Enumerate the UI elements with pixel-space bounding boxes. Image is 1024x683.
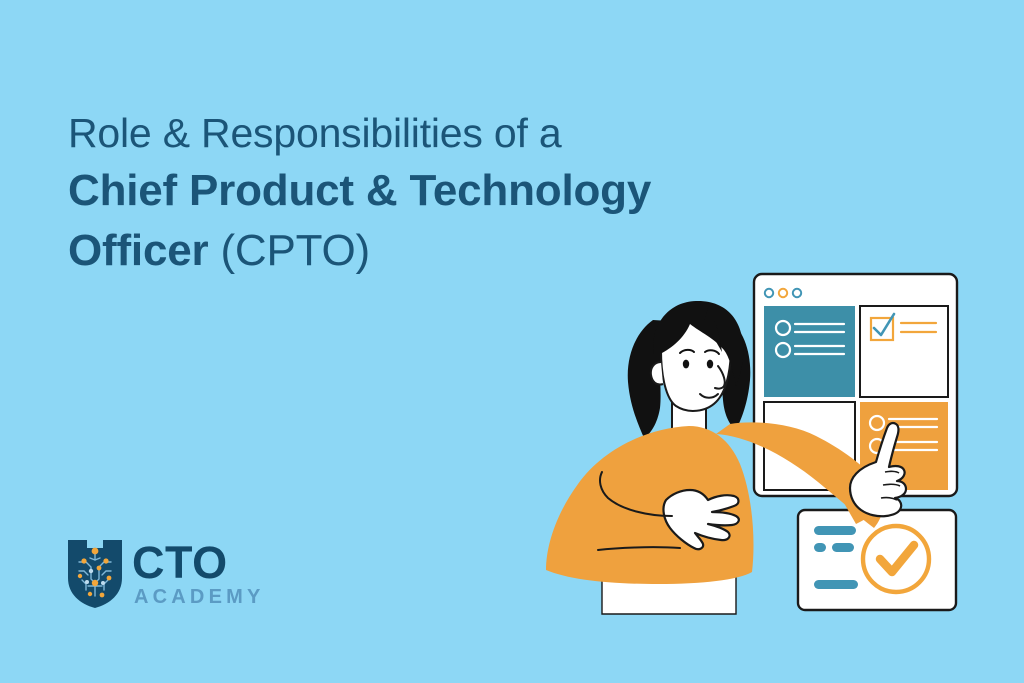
hero-illustration [540,258,1000,633]
headline-line-2: Chief Product & Technology [68,164,768,218]
approval-card [798,510,956,610]
logo-primary-text: CTO [132,541,265,585]
logo-secondary-text: ACADEMY [134,587,265,607]
cto-academy-logo[interactable]: CTO ACADEMY [66,538,265,610]
page-title: Role & Responsibilities of a Chief Produ… [68,108,768,277]
logo-wordmark: CTO ACADEMY [132,541,265,607]
teal-list-panel [764,306,855,397]
eye-left [683,360,689,369]
eye-right [707,360,713,369]
headline-role-bold: Officer [68,226,208,275]
checkbox-panel [860,306,948,397]
headline-line-1: Role & Responsibilities of a [68,108,768,158]
shield-circuit-icon [66,538,124,610]
headline-acronym: (CPTO) [208,226,370,275]
banner-canvas: Role & Responsibilities of a Chief Produ… [0,0,1024,683]
